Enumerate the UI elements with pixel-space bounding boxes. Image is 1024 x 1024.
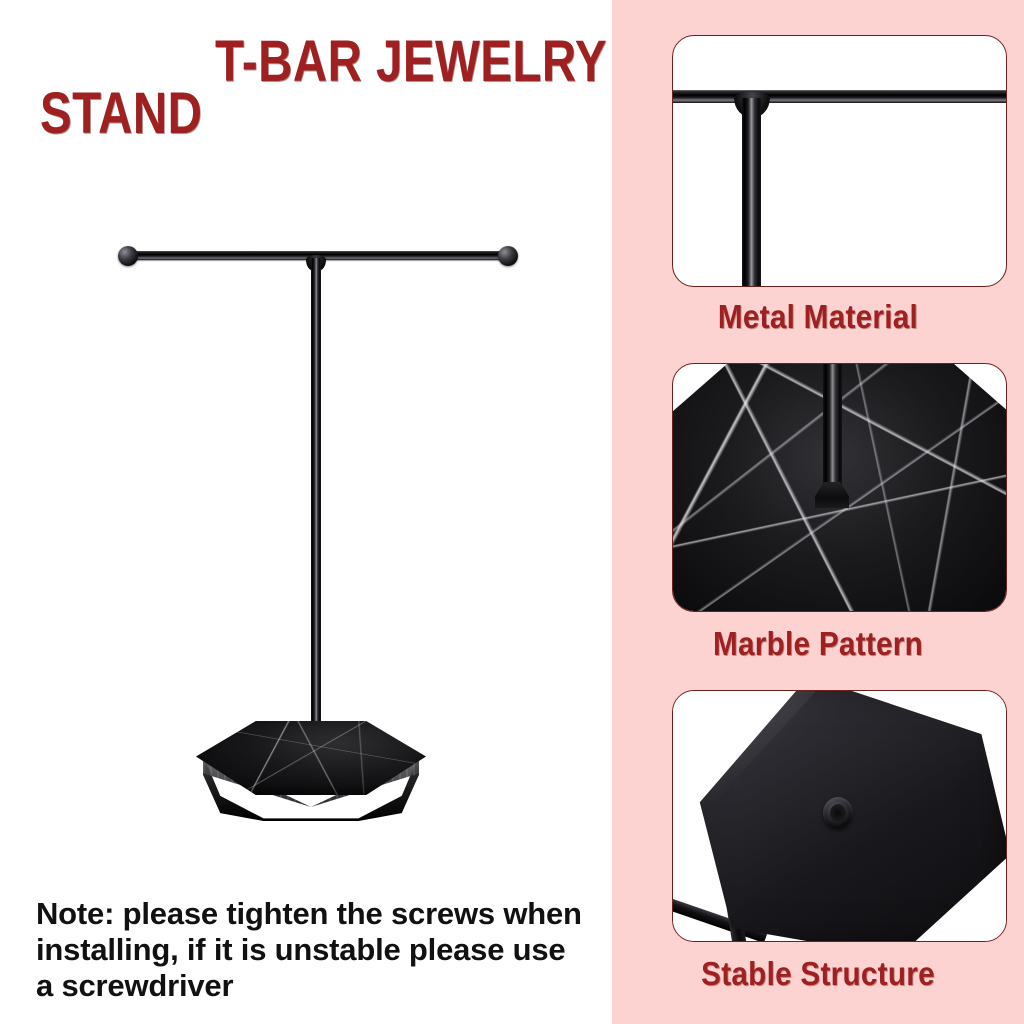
base-top-surface [196, 721, 426, 795]
feature-sidebar: Metal Material Marble Pattern Stable S [612, 0, 1024, 1024]
ball-finial-right-icon [498, 246, 518, 266]
ball-finial-left-icon [118, 246, 138, 266]
product-illustration [0, 0, 612, 880]
screw-hole-bore-icon [830, 804, 846, 822]
left-hero-panel: T-BAR JEWELRY STAND Note: please tighten… [0, 0, 612, 1024]
detail-vertical-rod [742, 98, 761, 287]
vertical-post-rod [311, 258, 321, 748]
feature-image-stable-structure [672, 690, 1007, 942]
marble-hexagon-base [196, 721, 426, 831]
product-infographic: T-BAR JEWELRY STAND Note: please tighten… [0, 0, 1024, 1024]
detail-horizontal-bar [672, 90, 1007, 103]
feature-caption-stable-structure: Stable Structure [633, 955, 1004, 993]
feature-caption-marble-pattern: Marble Pattern [633, 625, 1004, 663]
feature-image-metal-material [672, 35, 1007, 287]
installation-note: Note: please tighten the screws when ins… [36, 896, 582, 1004]
feature-image-marble-pattern [672, 363, 1007, 612]
feature-caption-metal-material: Metal Material [633, 298, 1004, 336]
